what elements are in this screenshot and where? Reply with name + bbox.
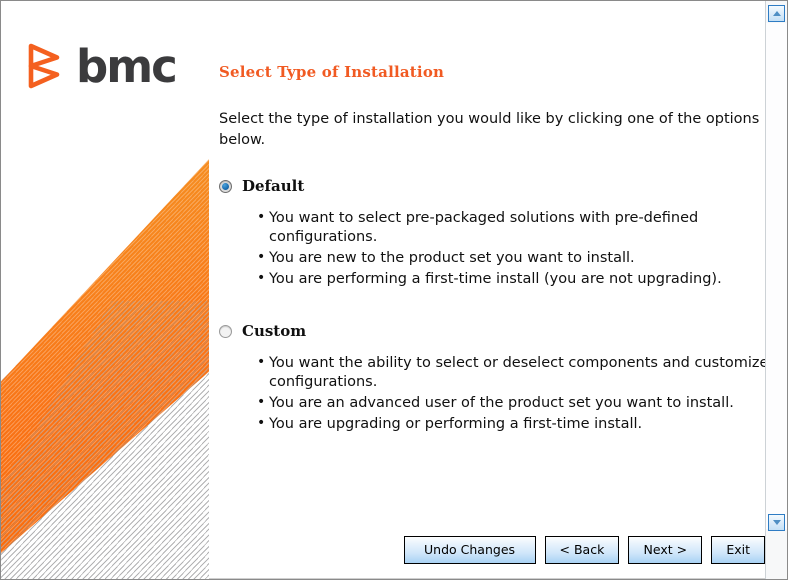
list-item: You are performing a first-time install … (257, 270, 769, 289)
option-default-header[interactable]: Default (219, 177, 769, 195)
undo-changes-button[interactable]: Undo Changes (404, 536, 536, 564)
bmc-wordmark: bmc (76, 44, 176, 89)
list-item: You want the ability to select or desele… (257, 354, 769, 392)
vertical-scrollbar[interactable] (765, 1, 787, 579)
scroll-up-arrow-icon (773, 11, 781, 16)
grey-stripe-wedge-front (1, 301, 209, 579)
content-body: Select Type of Installation Select the t… (209, 1, 787, 536)
radio-custom[interactable] (219, 325, 232, 338)
bmc-logo: bmc (27, 43, 176, 89)
exit-button[interactable]: Exit (711, 536, 765, 564)
option-custom: Custom You want the ability to select or… (219, 322, 769, 433)
list-item: You are upgrading or performing a first-… (257, 415, 769, 434)
footer-divider (209, 578, 787, 579)
option-custom-bullets: You want the ability to select or desele… (219, 354, 769, 433)
orange-stripe-wedge (1, 61, 209, 579)
intro-text: Select the type of installation you woul… (219, 109, 769, 151)
next-button[interactable]: Next > (628, 536, 702, 564)
option-default-label: Default (242, 177, 304, 195)
grey-stripe-wedge-back (1, 121, 209, 579)
radio-default[interactable] (219, 180, 232, 193)
bmc-chevron-logo-icon (27, 43, 67, 89)
navigation-button-bar: Undo Changes < Back Next > Exit (209, 536, 787, 578)
back-button[interactable]: < Back (545, 536, 620, 564)
scrollbar-track[interactable] (766, 23, 787, 529)
installer-window: bmc Select Type of Installation Select t… (0, 0, 788, 580)
page-title: Select Type of Installation (219, 63, 769, 81)
option-default: Default You want to select pre-packaged … (219, 177, 769, 288)
scroll-down-arrow-icon (773, 520, 781, 525)
scroll-up-button[interactable] (768, 5, 785, 22)
scroll-down-button[interactable] (768, 514, 785, 531)
list-item: You are new to the product set you want … (257, 249, 769, 268)
option-custom-label: Custom (242, 322, 306, 340)
list-item: You want to select pre-packaged solution… (257, 209, 769, 247)
option-default-bullets: You want to select pre-packaged solution… (219, 209, 769, 288)
option-custom-header[interactable]: Custom (219, 322, 769, 340)
branding-sidebar: bmc (1, 1, 209, 579)
content-panel: Select Type of Installation Select the t… (209, 1, 787, 579)
list-item: You are an advanced user of the product … (257, 394, 769, 413)
